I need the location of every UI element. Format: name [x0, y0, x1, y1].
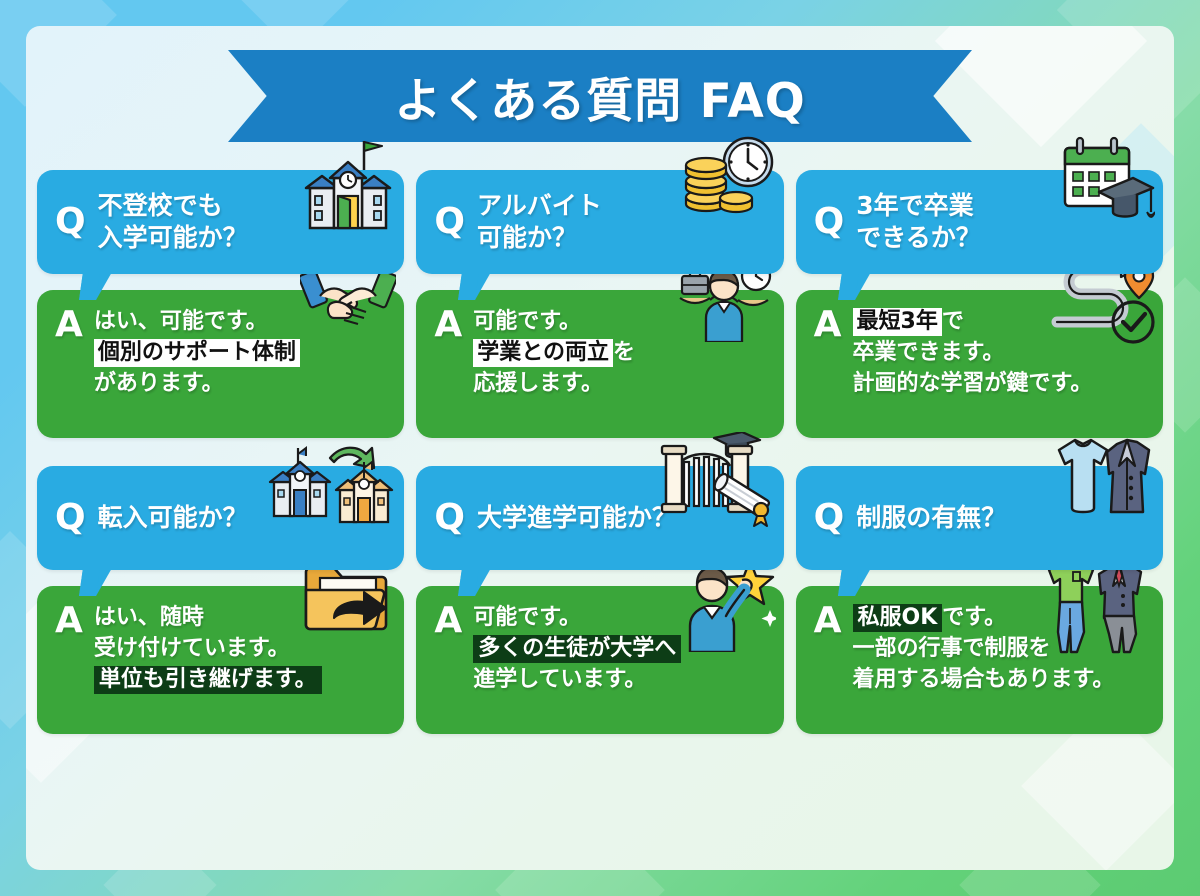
answer-card-three-year-graduation[interactable]: A最短3年で卒業できます。計画的な学習が鍵です。: [796, 290, 1163, 438]
answer-line: 私服OKです。: [853, 602, 1115, 633]
answer-card-part-time-job[interactable]: A可能です。学業との両立を応援します。: [416, 290, 783, 438]
answer-text: 私服OKです。一部の行事で制服を着用する場合もあります。: [853, 600, 1115, 696]
faq-item-part-time-job: Qアルバイト可能か？ A可能です。学業との両立を応援します。: [416, 170, 783, 438]
ribbon-shape: よくある質問 FAQ: [228, 50, 972, 142]
answer-highlight-dark: 多くの生徒が大学へ: [473, 635, 681, 663]
question-line: 不登校でも: [98, 190, 248, 222]
faq-item-enrollment: Q不登校でも入学可能か？ Aはい、可能です。個別のサポート体制があります。: [37, 170, 404, 438]
tshirt-blazer-icon: [1041, 432, 1155, 518]
question-letter: Q: [434, 500, 465, 536]
answer-letter: A: [814, 600, 842, 641]
answer-letter: A: [814, 304, 842, 345]
answer-segment: です。: [942, 605, 1006, 630]
question-line: 制服の有無？: [856, 502, 1006, 534]
answer-text: はい、随時受け付けています。単位も引き継げます。: [94, 600, 322, 696]
question-text: 転入可能か？: [98, 502, 248, 534]
question-line: アルバイト: [477, 190, 602, 222]
answer-letter: A: [55, 600, 83, 641]
answer-highlight-light: 学業との両立: [473, 339, 613, 367]
page-title: よくある質問 FAQ: [394, 62, 805, 131]
answer-text: 最短3年で卒業できます。計画的な学習が鍵です。: [853, 304, 1093, 400]
question-card-transfer[interactable]: Q転入可能か？: [37, 466, 404, 570]
answer-segment: はい、可能です。: [94, 309, 268, 334]
answer-line: 個別のサポート体制: [94, 337, 300, 368]
faq-grid: Q不登校でも入学可能か？ Aはい、可能です。個別のサポート体制があります。 Qア…: [37, 170, 1163, 734]
question-line: 3年で卒業: [856, 190, 981, 222]
question-letter: Q: [434, 204, 465, 240]
question-line: できるか？: [856, 222, 981, 254]
answer-text: はい、可能です。個別のサポート体制があります。: [94, 304, 300, 400]
answer-line: 応援します。: [473, 368, 635, 399]
answer-card-transfer[interactable]: Aはい、随時受け付けています。単位も引き継げます。: [37, 586, 404, 734]
answer-segment: 卒業できます。: [853, 340, 1005, 365]
question-text: アルバイト可能か？: [477, 190, 602, 254]
question-text: 大学進学可能か？: [477, 502, 677, 534]
answer-segment: があります。: [94, 371, 224, 396]
answer-highlight-light: 最短3年: [853, 308, 942, 336]
answer-segment: を: [613, 340, 635, 365]
answer-line: があります。: [94, 368, 300, 399]
answer-highlight-dark: 私服OK: [853, 604, 943, 632]
answer-letter: A: [434, 600, 462, 641]
question-line: 大学進学可能か？: [477, 502, 677, 534]
answer-line: 可能です。: [473, 306, 635, 337]
answer-segment: 応援します。: [473, 371, 603, 396]
answer-text: 可能です。多くの生徒が大学へ進学しています。: [473, 600, 681, 696]
faq-item-three-year-graduation: Q3年で卒業できるか？ A最短3年で卒業できます。計画的な学習が鍵です。: [796, 170, 1163, 438]
answer-segment: 計画的な学習が鍵です。: [853, 371, 1093, 396]
answer-card-university[interactable]: A可能です。多くの生徒が大学へ進学しています。: [416, 586, 783, 734]
answer-line: 多くの生徒が大学へ: [473, 633, 681, 664]
answer-line: 計画的な学習が鍵です。: [853, 368, 1093, 399]
answer-highlight-dark: 単位も引き継げます。: [94, 666, 322, 694]
answer-segment: で: [942, 309, 964, 334]
answer-segment: 可能です。: [473, 605, 581, 630]
answer-line: 単位も引き継げます。: [94, 664, 322, 695]
answer-segment: 進学しています。: [473, 667, 646, 692]
faq-item-transfer: Q転入可能か？ Aはい、随時受け付けています。単位も引き継げます。: [37, 466, 404, 734]
faq-item-university: Q大学進学可能か？ A可能です。多くの生徒が大学へ進学しています。: [416, 466, 783, 734]
answer-card-uniform[interactable]: A私服OKです。一部の行事で制服を着用する場合もあります。: [796, 586, 1163, 734]
question-text: 制服の有無？: [856, 502, 1006, 534]
answer-line: 最短3年で: [853, 306, 1093, 337]
question-line: 転入可能か？: [98, 502, 248, 534]
question-letter: Q: [55, 204, 86, 240]
question-text: 3年で卒業できるか？: [856, 190, 981, 254]
answer-line: 学業との両立を: [473, 337, 635, 368]
school-transfer-icon: [268, 432, 396, 524]
title-ribbon: よくある質問 FAQ: [228, 50, 972, 142]
answer-line: 着用する場合もあります。: [853, 664, 1115, 695]
answer-card-enrollment[interactable]: Aはい、可能です。個別のサポート体制があります。: [37, 290, 404, 438]
answer-line: はい、随時: [94, 602, 322, 633]
answer-line: はい、可能です。: [94, 306, 300, 337]
student-star-icon: [672, 556, 776, 652]
answer-line: 一部の行事で制服を: [853, 633, 1115, 664]
answer-segment: 着用する場合もあります。: [853, 667, 1115, 692]
answer-segment: 可能です。: [473, 309, 581, 334]
answer-highlight-light: 個別のサポート体制: [94, 339, 300, 367]
question-line: 可能か？: [477, 222, 602, 254]
question-letter: Q: [55, 500, 86, 536]
faq-item-uniform: Q制服の有無？ A私服OKです。一部の行事で制服を着用する場合もあります。: [796, 466, 1163, 734]
question-card-enrollment[interactable]: Q不登校でも入学可能か？: [37, 170, 404, 274]
question-card-three-year-graduation[interactable]: Q3年で卒業できるか？: [796, 170, 1163, 274]
answer-letter: A: [434, 304, 462, 345]
answer-segment: 一部の行事で制服を: [853, 636, 1051, 661]
answer-line: 可能です。: [473, 602, 681, 633]
question-text: 不登校でも入学可能か？: [98, 190, 248, 254]
answer-segment: 受け付けています。: [94, 636, 290, 661]
question-line: 入学可能か？: [98, 222, 248, 254]
question-card-uniform[interactable]: Q制服の有無？: [796, 466, 1163, 570]
answer-text: 可能です。学業との両立を応援します。: [473, 304, 635, 400]
answer-line: 受け付けています。: [94, 633, 322, 664]
question-card-university[interactable]: Q大学進学可能か？: [416, 466, 783, 570]
answer-line: 進学しています。: [473, 664, 681, 695]
answer-letter: A: [55, 304, 83, 345]
question-letter: Q: [814, 500, 845, 536]
question-letter: Q: [814, 204, 845, 240]
question-card-part-time-job[interactable]: Qアルバイト可能か？: [416, 170, 783, 274]
answer-line: 卒業できます。: [853, 337, 1093, 368]
answer-segment: はい、随時: [94, 605, 204, 630]
